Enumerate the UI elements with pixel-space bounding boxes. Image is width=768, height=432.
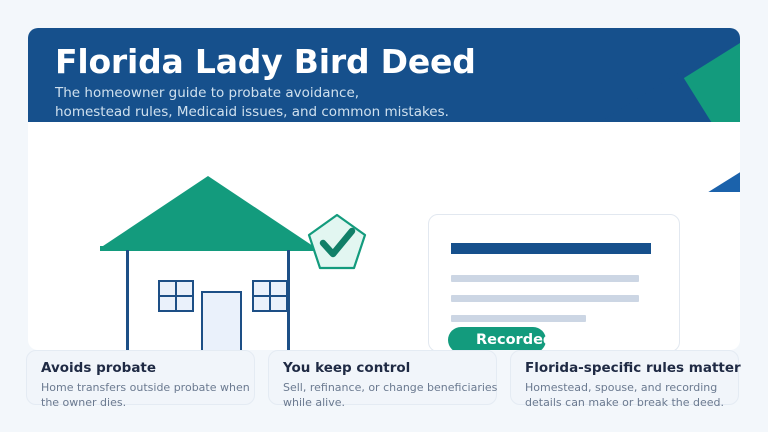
feature-card-body: Home transfers outside probate when the … bbox=[41, 380, 271, 410]
feature-card-title: Avoids probate bbox=[41, 360, 156, 377]
page-subtitle: The homeowner guide to probate avoidance… bbox=[55, 84, 476, 122]
feature-card-body: Homestead, spouse, and recording details… bbox=[525, 380, 755, 410]
feature-card-florida-rules[interactable]: Florida-specific rules matter Homestead,… bbox=[510, 350, 739, 405]
feature-card-body: Sell, refinance, or change beneficiaries… bbox=[283, 380, 513, 410]
feature-card-avoids-probate[interactable]: Avoids probate Home transfers outside pr… bbox=[26, 350, 255, 405]
feature-card-title: Florida-specific rules matter bbox=[525, 360, 741, 377]
header-text-group: Florida Lady Bird Deed The homeowner gui… bbox=[55, 42, 476, 122]
feature-card-title: You keep control bbox=[283, 360, 410, 377]
infographic-stage: Florida Lady Bird Deed The homeowner gui… bbox=[0, 0, 768, 432]
page-title: Florida Lady Bird Deed bbox=[55, 42, 476, 82]
feature-card-you-keep-control[interactable]: You keep control Sell, refinance, or cha… bbox=[268, 350, 497, 405]
